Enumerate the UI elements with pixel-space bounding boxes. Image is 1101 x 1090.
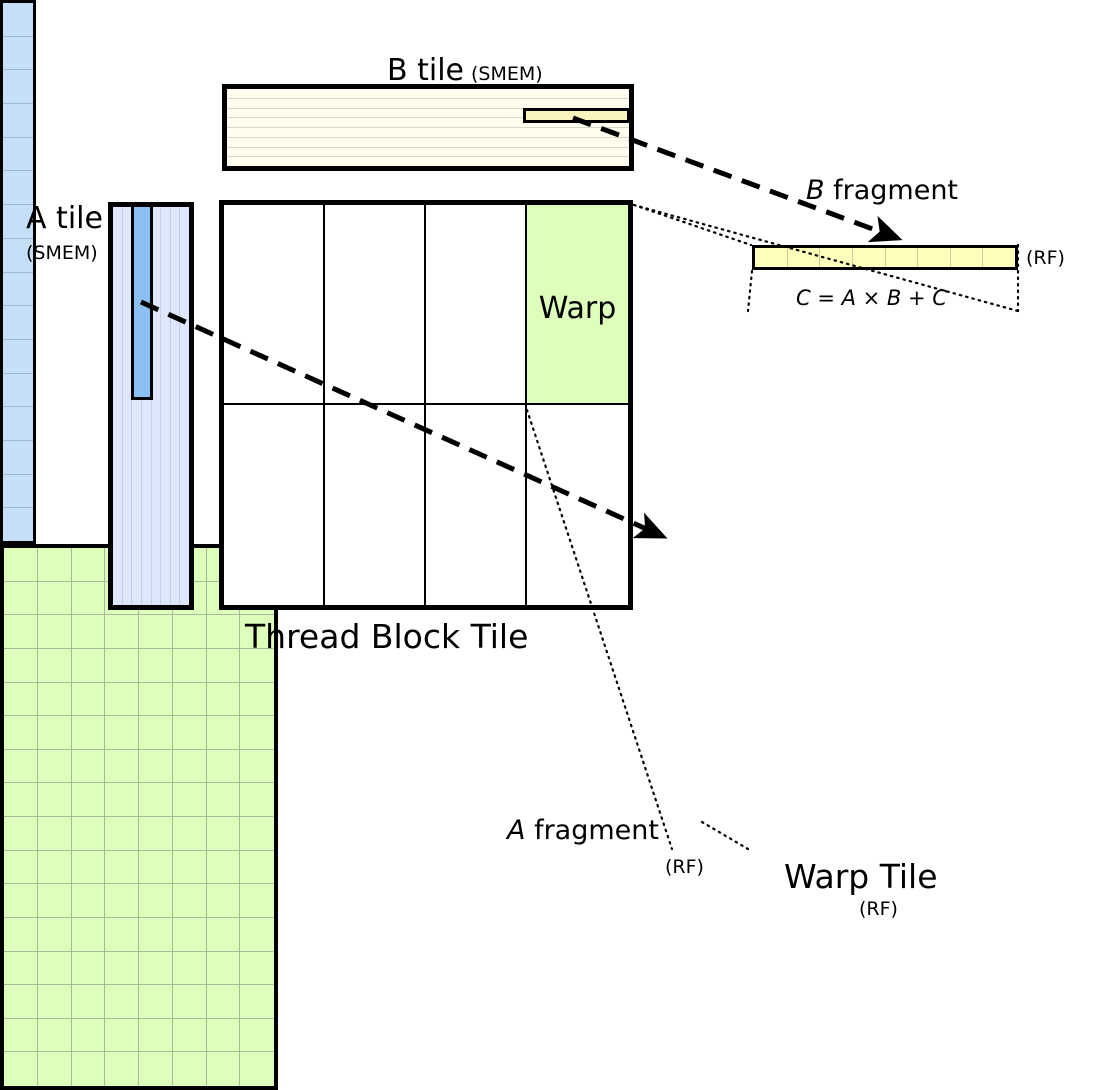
warp-tile-cell xyxy=(38,750,72,784)
warp-tile-cell xyxy=(240,985,274,1019)
b-tile-title-text: B tile xyxy=(387,53,464,88)
warp-tile-cell xyxy=(207,1052,241,1086)
warp-tile-cell xyxy=(173,649,207,683)
warp-tile-cell xyxy=(105,1019,139,1053)
warp-tile-cell xyxy=(72,918,106,952)
warp-tile-cell xyxy=(105,783,139,817)
warp-tile-cell xyxy=(105,952,139,986)
warp-tile-cell xyxy=(105,615,139,649)
warp-tile-cell xyxy=(105,884,139,918)
b-fragment-label-italic: B xyxy=(806,175,825,206)
warp-tile-cell xyxy=(72,1052,106,1086)
warp-tile-cell xyxy=(139,615,173,649)
warp-tile-cell xyxy=(207,851,241,885)
a-fragment-cell xyxy=(3,441,33,475)
warp-tile-cell xyxy=(4,851,38,885)
warp-tile-cell xyxy=(72,985,106,1019)
warp-tile-cell xyxy=(38,918,72,952)
warp-tile-cell xyxy=(38,851,72,885)
a-tile-title: A tile xyxy=(26,204,103,234)
warp-tile-cell xyxy=(240,817,274,851)
warp-tile-cell xyxy=(4,683,38,717)
warp-tile-cell xyxy=(72,783,106,817)
warp-tile-cell xyxy=(105,683,139,717)
a-fragment-cell xyxy=(3,508,33,541)
warp-tile-cell xyxy=(240,716,274,750)
a-tile-highlighted-fragment[interactable] xyxy=(131,204,153,400)
b-fragment-rf[interactable] xyxy=(752,245,1018,270)
warp-tile-cell xyxy=(38,783,72,817)
b-tile-memory-text: (SMEM) xyxy=(471,63,543,85)
warp-tile-cell xyxy=(207,817,241,851)
b-tile-smem[interactable] xyxy=(222,84,634,171)
warp-tile-cell xyxy=(4,783,38,817)
warp-tile-cell xyxy=(139,1019,173,1053)
a-fragment-cell xyxy=(3,37,33,71)
warp-tile-cell xyxy=(72,548,106,582)
gemm-equation: C = A × B + C xyxy=(796,288,947,309)
a-fragment-memory: (RF) xyxy=(665,858,704,877)
warp-tile-cell xyxy=(72,582,106,616)
thread-block-tile-grid: Warp xyxy=(224,205,628,605)
b-fragment-cell xyxy=(951,248,984,267)
warp-tile-cell xyxy=(38,817,72,851)
thread-block-cell[interactable] xyxy=(527,405,628,605)
warp-tile-cell xyxy=(173,851,207,885)
warp-tile-cell xyxy=(240,884,274,918)
warp-tile-cell xyxy=(38,952,72,986)
b-tile-rows xyxy=(227,89,629,166)
warp-tile-cell xyxy=(38,716,72,750)
a-tile-column xyxy=(113,207,123,605)
warp-tile-cell xyxy=(4,1019,38,1053)
b-tile-row xyxy=(227,138,629,148)
warp-tile-cell xyxy=(139,783,173,817)
warp-tile-cell xyxy=(240,851,274,885)
thread-block-cell[interactable] xyxy=(224,205,325,405)
warp-tile-cell xyxy=(139,817,173,851)
warp-tile-cell xyxy=(173,683,207,717)
b-fragment-cell xyxy=(788,248,821,267)
warp-tile-cell xyxy=(240,918,274,952)
warp-tile-cell xyxy=(72,817,106,851)
warp-tile-cell xyxy=(4,548,38,582)
warp-tile-cell xyxy=(72,750,106,784)
warp-tile-cell xyxy=(105,918,139,952)
b-tile-row xyxy=(227,128,629,138)
a-fragment-label: A fragment xyxy=(507,817,659,844)
warp-tile-cell xyxy=(173,817,207,851)
warp-tile-cell xyxy=(105,1052,139,1086)
warp-tile-cell xyxy=(207,750,241,784)
warp-tile-cell xyxy=(4,952,38,986)
warp-tile-cell xyxy=(173,1052,207,1086)
diagram-canvas: B tile(SMEM) A tile (SMEM) xyxy=(0,0,1101,937)
a-tile-column xyxy=(161,207,171,605)
warp-tile-cell xyxy=(173,884,207,918)
warp-tile-cell xyxy=(105,817,139,851)
a-fragment-cell xyxy=(3,138,33,172)
warp-tile-cell xyxy=(72,683,106,717)
warp-tile-cell xyxy=(38,548,72,582)
warp-tile-cell xyxy=(240,1019,274,1053)
warp-tile-cell xyxy=(105,851,139,885)
warp-tile-cell xyxy=(173,985,207,1019)
warp-tile-cell xyxy=(240,750,274,784)
warp-tile-cell xyxy=(105,985,139,1019)
warp-tile-cell xyxy=(139,952,173,986)
warp-tile-cell xyxy=(139,1052,173,1086)
warp-tile-cell xyxy=(207,1019,241,1053)
b-tile-highlighted-fragment[interactable] xyxy=(523,108,630,123)
warp-tile-cell xyxy=(4,884,38,918)
warp-tile-cell xyxy=(139,750,173,784)
warp-tile-cell xyxy=(207,783,241,817)
b-fragment-cell xyxy=(918,248,951,267)
warp-tile-cell xyxy=(207,884,241,918)
b-fragment-cell xyxy=(755,248,788,267)
warp-tile-cell xyxy=(139,716,173,750)
warp-tile-memory: (RF) xyxy=(859,900,898,919)
b-fragment-memory: (RF) xyxy=(1026,249,1065,268)
warp-tile-cell xyxy=(4,716,38,750)
warp-cell-label: Warp xyxy=(527,291,628,326)
thread-block-cell[interactable] xyxy=(426,405,527,605)
warp-tile-cell xyxy=(173,783,207,817)
thread-block-tile[interactable]: Warp xyxy=(219,200,633,610)
b-fragment-cell xyxy=(983,248,1015,267)
a-tile-smem[interactable] xyxy=(108,202,194,610)
warp-tile-cell xyxy=(38,649,72,683)
warp-tile-cell xyxy=(72,615,106,649)
warp-tile-cell xyxy=(72,851,106,885)
connector-a-fragment-to-warp-tile xyxy=(702,822,748,849)
thread-block-cell[interactable] xyxy=(325,205,426,405)
a-tile-column xyxy=(180,207,189,605)
b-tile-title: B tile(SMEM) xyxy=(387,56,543,86)
warp-tile-cell xyxy=(4,649,38,683)
warp-tile-cell xyxy=(38,582,72,616)
warp-tile-cell xyxy=(105,649,139,683)
warp-tile-cell xyxy=(139,918,173,952)
b-tile-row xyxy=(227,157,629,166)
warp-tile-cell xyxy=(72,1019,106,1053)
warp-tile-cell xyxy=(240,683,274,717)
warp-tile-cell xyxy=(72,649,106,683)
b-fragment-cell xyxy=(853,248,886,267)
warp-tile-label: Warp Tile xyxy=(784,860,938,893)
warp-tile-cell xyxy=(173,918,207,952)
warp-tile-cell xyxy=(4,817,38,851)
a-tile-memory: (SMEM) xyxy=(26,244,98,263)
warp-tile-cell xyxy=(38,683,72,717)
warp-tile-cell xyxy=(139,985,173,1019)
warp-tile-cell xyxy=(207,716,241,750)
warp-tile-cell xyxy=(173,615,207,649)
warp-tile-cell xyxy=(38,615,72,649)
b-fragment-label: B fragment xyxy=(806,177,958,204)
warp-tile-cell xyxy=(207,985,241,1019)
warp-tile-cell xyxy=(173,716,207,750)
warp-tile-cell xyxy=(240,783,274,817)
warp-tile-cell xyxy=(105,750,139,784)
warp-tile-cell xyxy=(4,918,38,952)
thread-block-cell[interactable] xyxy=(426,205,527,405)
a-fragment-cell xyxy=(3,104,33,138)
warp-tile-cell xyxy=(38,884,72,918)
warp-tile-cell xyxy=(173,750,207,784)
thread-block-cell-warp[interactable]: Warp xyxy=(527,205,628,405)
warp-tile-cell xyxy=(139,884,173,918)
warp-tile-cell xyxy=(4,582,38,616)
connector-b-fragment-left-to-warp-tile xyxy=(748,271,752,311)
a-fragment-cell xyxy=(3,407,33,441)
warp-tile-cell xyxy=(207,683,241,717)
warp-tile-cell xyxy=(173,1019,207,1053)
a-fragment-rf[interactable] xyxy=(0,0,36,544)
a-fragment-label-italic: A xyxy=(507,815,525,846)
a-fragment-cell xyxy=(3,340,33,374)
warp-tile-cell xyxy=(4,1052,38,1086)
warp-tile-rf[interactable] xyxy=(0,544,278,1090)
warp-tile-cell xyxy=(4,615,38,649)
connector-warp-to-b-fragment xyxy=(634,205,751,245)
a-fragment-cell xyxy=(3,475,33,509)
a-fragment-label-rest: fragment xyxy=(525,815,658,846)
a-fragment-cell xyxy=(3,374,33,408)
a-fragment-cell xyxy=(3,3,33,37)
warp-tile-cell xyxy=(72,716,106,750)
a-tile-column xyxy=(171,207,181,605)
thread-block-cell[interactable] xyxy=(224,405,325,605)
warp-tile-cell xyxy=(173,952,207,986)
warp-tile-cell xyxy=(240,1052,274,1086)
b-fragment-cell xyxy=(820,248,853,267)
b-fragment-label-rest: fragment xyxy=(825,175,958,206)
warp-tile-cell xyxy=(4,985,38,1019)
b-tile-row xyxy=(227,89,629,99)
b-tile-row xyxy=(227,148,629,158)
warp-tile-cell xyxy=(139,683,173,717)
warp-tile-cell xyxy=(105,716,139,750)
thread-block-tile-label: Thread Block Tile xyxy=(245,620,528,653)
a-fragment-cell xyxy=(3,273,33,307)
warp-tile-cell xyxy=(139,649,173,683)
warp-tile-cell xyxy=(207,918,241,952)
warp-tile-cell xyxy=(38,1052,72,1086)
a-fragment-cell xyxy=(3,70,33,104)
b-fragment-cell xyxy=(886,248,919,267)
a-fragment-cell xyxy=(3,306,33,340)
warp-tile-cell xyxy=(207,952,241,986)
warp-tile-cell xyxy=(240,952,274,986)
warp-tile-cell xyxy=(207,649,241,683)
warp-tile-cell xyxy=(139,851,173,885)
warp-tile-cell xyxy=(72,952,106,986)
warp-tile-cell xyxy=(38,1019,72,1053)
thread-block-cell[interactable] xyxy=(325,405,426,605)
warp-tile-cell xyxy=(4,750,38,784)
warp-tile-cell xyxy=(207,615,241,649)
warp-tile-cell xyxy=(38,985,72,1019)
warp-tile-cell xyxy=(72,884,106,918)
